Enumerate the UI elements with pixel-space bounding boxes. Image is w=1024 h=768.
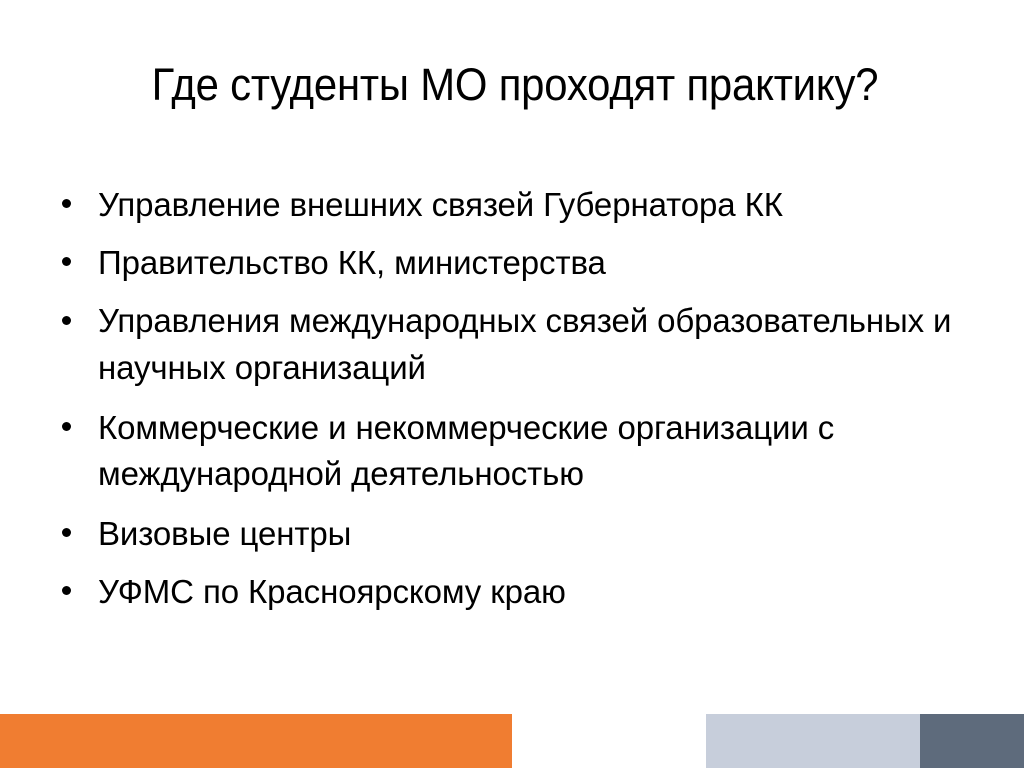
list-item: УФМС по Красноярскому краю <box>46 569 996 615</box>
list-item: Визовые центры <box>46 511 996 557</box>
bullet-dot-icon <box>62 586 71 595</box>
bullet-list: Управление внешних связей Губернатора КК… <box>46 182 996 616</box>
list-item-label: Управление внешних связей Губернатора КК <box>98 182 996 228</box>
bullet-dot-icon <box>62 316 71 325</box>
footer-bar-orange <box>0 714 512 768</box>
list-item: Правительство КК, министерства <box>46 240 996 286</box>
bullet-dot-icon <box>62 199 71 208</box>
footer-bar-light <box>706 714 920 768</box>
list-item-label: Коммерческие и некоммерческие организаци… <box>98 405 996 497</box>
list-item-label: Правительство КК, министерства <box>98 240 996 286</box>
list-item-label: УФМС по Красноярскому краю <box>98 569 996 615</box>
bullet-dot-icon <box>62 422 71 431</box>
bullet-dot-icon <box>62 257 71 266</box>
footer-bar-dark <box>920 714 1024 768</box>
slide-title: Где студенты МО проходят практику? <box>148 56 883 114</box>
list-item: Коммерческие и некоммерческие организаци… <box>46 405 996 497</box>
list-item-label: Управления международных связей образова… <box>98 298 996 390</box>
list-item-label: Визовые центры <box>98 511 996 557</box>
footer-decoration <box>0 714 1024 768</box>
bullet-dot-icon <box>62 528 71 537</box>
list-item: Управление внешних связей Губернатора КК <box>46 182 996 228</box>
presentation-slide: Где студенты МО проходят практику? Управ… <box>0 0 1024 768</box>
list-item: Управления международных связей образова… <box>46 298 996 390</box>
